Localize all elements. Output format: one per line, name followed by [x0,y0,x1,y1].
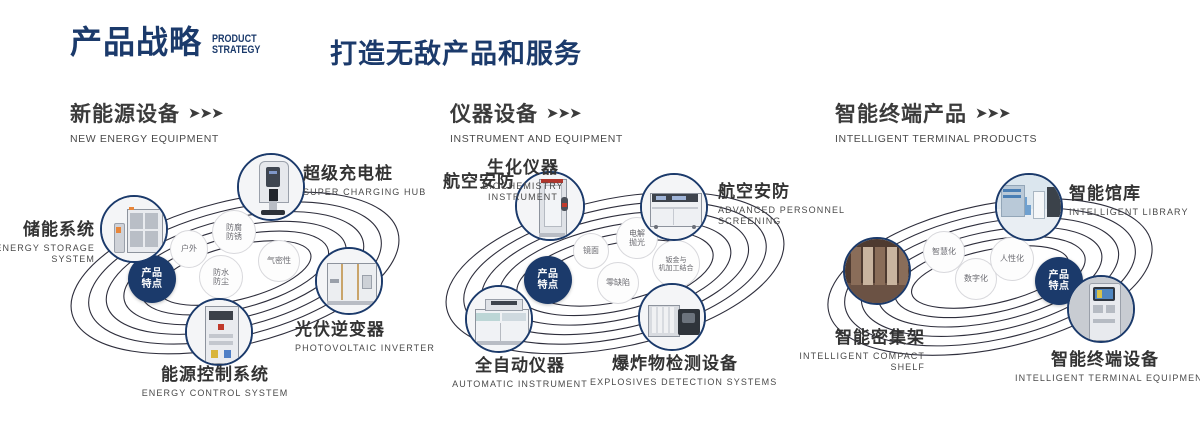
badge-line2: 特点 [142,279,163,290]
feature-bubble: 人性化 [990,237,1034,281]
badge-line1: 产品 [538,269,559,280]
feature-bubble-line1: 数字化 [964,274,988,283]
caption-en-line1: ENERGY CONTROL SYSTEM [90,388,340,398]
page-title: 产品战略 [70,26,202,58]
section-title-intelligent: 智能终端产品 ➤➤➤ INTELLIGENT TERMINAL PRODUCTS [835,98,1037,145]
caption-energy-storage-system: 储能系统 ENERGY STORAGE SYSTEM [0,215,95,264]
node-photo-super-charging-hub[interactable] [237,153,305,221]
caption-cn: 智能密集架 [705,323,925,348]
feature-bubble: 钣金与 机加工结合 [652,240,700,288]
chevron-right-icon: ➤➤➤ [975,104,1010,122]
caption-en-line1: ENERGY STORAGE [0,243,95,253]
node-photo-intelligent-compact-shelf[interactable] [843,237,911,305]
node-photo-advanced-personnel-screening[interactable] [640,173,708,241]
section-title-instrument: 仪器设备 ➤➤➤ INSTRUMENT AND EQUIPMENT [450,98,623,145]
poster-canvas: 产品战略 PRODUCT STRATEGY 打造无敌产品和服务 新能源设备 ➤➤… [0,0,1200,422]
chevron-right-icon: ➤➤➤ [188,104,223,122]
node-photo-explosives-detection[interactable] [638,283,706,351]
chevron-right-icon: ➤➤➤ [546,104,581,122]
section-title-en: INSTRUMENT AND EQUIPMENT [450,133,623,145]
feature-bubble: 气密性 [258,240,300,282]
caption-cn: 能源控制系统 [90,360,340,385]
caption-cn: 光伏逆变器 [295,315,435,340]
caption-en-line1: INTELLIGENT LIBRARY [1069,207,1189,217]
section-title-en: INTELLIGENT TERMINAL PRODUCTS [835,133,1037,145]
section-title-cn: 仪器设备 [450,98,538,128]
page-header: 产品战略 PRODUCT STRATEGY [70,26,271,58]
caption-en-line1: EXPLOSIVES DETECTION SYSTEMS [590,377,760,387]
caption-intelligent-compact-shelf: 智能密集架 INTELLIGENT COMPACT SHELF [705,323,925,372]
feature-bubble-line1: 钣金与 [659,256,694,264]
caption-en-line1: INTELLIGENT COMPACT [705,351,925,361]
caption-en-line2: INSTRUMENT [458,192,588,202]
orbit-diagram-new-energy: 户外 防腐 防锈 气密性 防水 防尘 产品 特点 [55,155,415,385]
badge-line2: 特点 [1049,281,1070,292]
product-features-badge: 产品 特点 [524,256,572,304]
feature-bubble-line1: 气密性 [267,256,291,265]
caption-biochemistry-instrument: 生化仪器 BIOCHEMISTRY INSTRUMENT [458,153,588,202]
badge-line2: 特点 [538,280,559,291]
feature-bubble-line1: 防水 [213,268,229,277]
section-title-new-energy: 新能源设备 ➤➤➤ NEW ENERGY EQUIPMENT [70,98,223,145]
caption-en-line2: SYSTEM [0,254,95,264]
feature-bubble-line1: 零缺陷 [606,278,630,287]
caption-en-line1: INTELLIGENT TERMINAL EQUIPMENT [1015,373,1195,383]
feature-bubble: 零缺陷 [597,262,639,304]
caption-cn: 智能终端设备 [1015,345,1195,370]
feature-bubble: 防水 防尘 [199,255,243,299]
feature-bubble-line2: 抛光 [629,238,645,247]
section-title-en: NEW ENERGY EQUIPMENT [70,133,223,145]
feature-bubble: 户外 [170,230,208,268]
orbit-diagram-intelligent-terminal: 智慧化 数字化 人性化 产品 特点 [815,165,1165,390]
feature-bubble-line1: 人性化 [1000,254,1024,263]
page-title-english-line2: STRATEGY [212,45,260,56]
caption-intelligent-terminal-equipment: 智能终端设备 INTELLIGENT TERMINAL EQUIPMENT [1015,345,1195,383]
caption-en-line2: SHELF [705,362,925,372]
badge-line1: 产品 [142,268,163,279]
feature-bubble-line2: 防锈 [226,232,242,241]
feature-bubble-line2: 机加工结合 [659,264,694,272]
section-title-cn: 新能源设备 [70,98,180,128]
feature-bubble-line2: 防尘 [213,277,229,286]
caption-en-line1: PHOTOVOLTAIC INVERTER [295,343,435,353]
feature-bubble-line1: 户外 [181,244,197,253]
feature-bubble-line1: 镜面 [583,246,599,255]
node-photo-intelligent-terminal-equipment[interactable] [1067,275,1135,343]
caption-intelligent-library: 智能馆库 INTELLIGENT LIBRARY [1069,179,1189,217]
caption-cn: 生化仪器 [458,153,588,178]
node-photo-intelligent-library[interactable] [995,173,1063,241]
feature-bubble-line1: 防腐 [226,223,242,232]
node-photo-energy-storage-system[interactable] [100,195,168,263]
caption-cn: 储能系统 [0,215,95,240]
caption-en-line1: BIOCHEMISTRY [458,181,588,191]
badge-line1: 产品 [1049,270,1070,281]
feature-bubble-line1: 智慧化 [932,247,956,256]
node-photo-photovoltaic-inverter[interactable] [315,247,383,315]
section-title-cn: 智能终端产品 [835,98,967,128]
page-subtitle: 打造无敌产品和服务 [330,32,582,71]
caption-energy-control-system: 能源控制系统 ENERGY CONTROL SYSTEM [90,360,340,398]
caption-photovoltaic-inverter: 光伏逆变器 PHOTOVOLTAIC INVERTER [295,315,435,353]
node-photo-automatic-instrument[interactable] [465,285,533,353]
node-photo-energy-control-system[interactable] [185,298,253,366]
page-title-english: PRODUCT STRATEGY [212,34,260,56]
caption-cn: 智能馆库 [1069,179,1189,204]
